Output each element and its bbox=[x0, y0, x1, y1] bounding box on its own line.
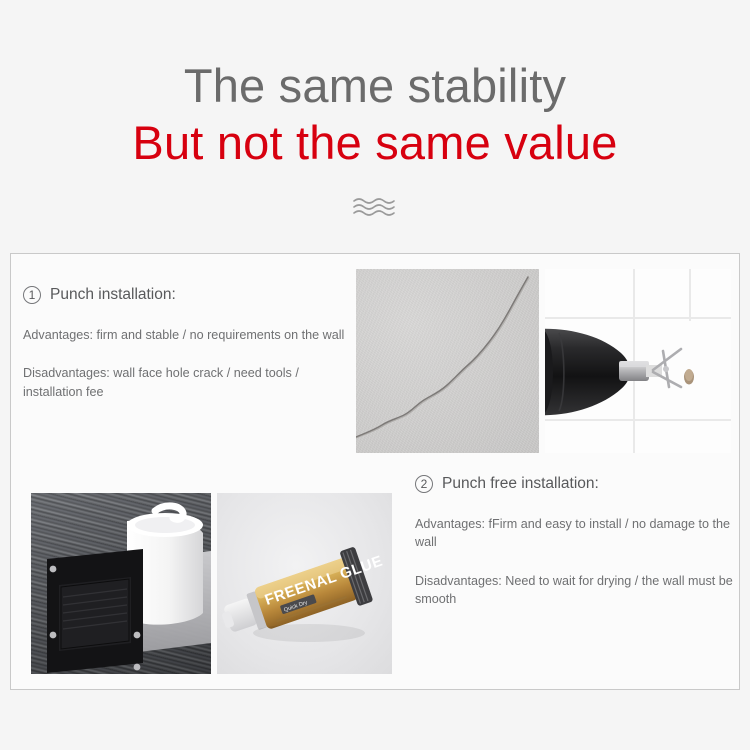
section-2-disadvantages: Disadvantages: Need to wait for drying /… bbox=[415, 572, 733, 609]
section-1-advantages: Advantages: firm and stable / no require… bbox=[23, 326, 353, 344]
glue-tube-photo: FREENAL GLUE Quick Dry bbox=[217, 493, 392, 674]
section-1-text: 1 Punch installation: Advantages: firm a… bbox=[23, 286, 353, 401]
section-2-number-badge: 2 bbox=[415, 475, 433, 493]
drill-illustration bbox=[545, 269, 731, 453]
headline-secondary: But not the same value bbox=[0, 115, 750, 170]
section-2-title: 2 Punch free installation: bbox=[415, 475, 733, 493]
section-2-advantages: Advantages: fFirm and easy to install / … bbox=[415, 515, 733, 552]
wave-divider-icon bbox=[352, 196, 398, 218]
wall-crack-line bbox=[356, 269, 539, 453]
headline-primary: The same stability bbox=[0, 58, 750, 113]
rack-and-cup-illustration bbox=[31, 493, 211, 674]
section-1-number-badge: 1 bbox=[23, 286, 41, 304]
wave-divider bbox=[0, 179, 750, 235]
content-panel: 1 Punch installation: Advantages: firm a… bbox=[10, 253, 740, 690]
section-1-title: 1 Punch installation: bbox=[23, 286, 353, 304]
section-1-title-label: Punch installation: bbox=[50, 286, 176, 304]
black-rack-bracket-photo bbox=[31, 493, 211, 674]
page-header: The same stability But not the same valu… bbox=[0, 0, 750, 171]
section-2-title-label: Punch free installation: bbox=[442, 475, 599, 493]
glue-tube-illustration: FREENAL GLUE Quick Dry bbox=[217, 493, 392, 674]
electric-drill-photo bbox=[545, 269, 731, 453]
section-1-disadvantages: Disadvantages: wall face hole crack / ne… bbox=[23, 364, 353, 401]
section-2-text: 2 Punch free installation: Advantages: f… bbox=[415, 475, 733, 608]
section-row-2: FREENAL GLUE Quick Dry 2 Punch free inst… bbox=[11, 453, 739, 690]
cracked-wall-photo bbox=[356, 269, 539, 453]
section-row-1: 1 Punch installation: Advantages: firm a… bbox=[11, 254, 739, 453]
